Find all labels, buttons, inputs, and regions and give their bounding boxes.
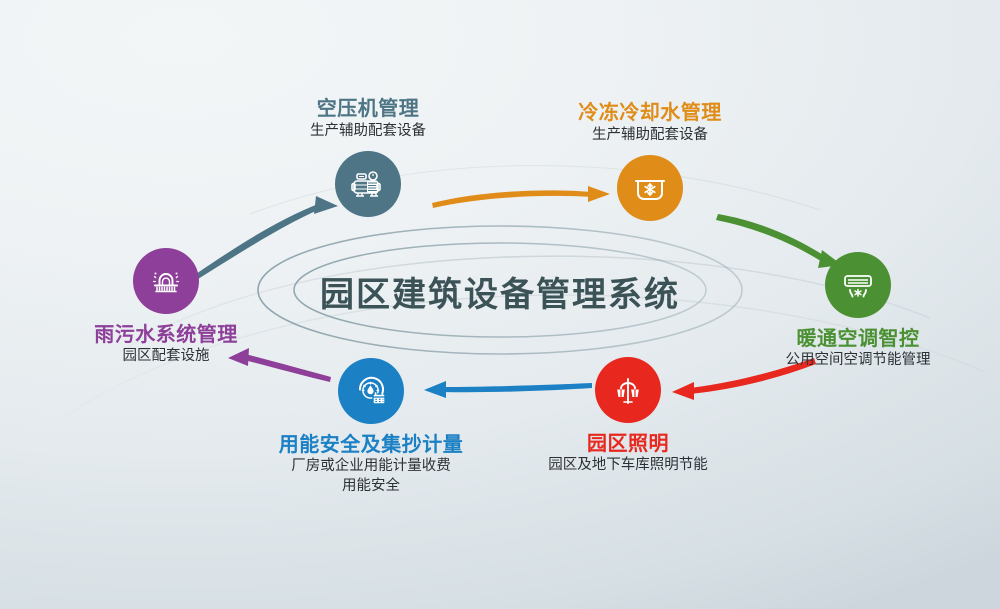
- node-metering-subtitle-line2: 用能安全: [221, 477, 521, 497]
- street-lamp-icon[interactable]: [595, 357, 661, 423]
- node-chilled-water-subtitle: 生产辅助配套设备: [500, 126, 800, 146]
- node-metering-title: 用能安全及集抄计量: [221, 432, 521, 457]
- chilled-water-tank-icon[interactable]: [617, 155, 683, 221]
- node-drainage-title: 雨污水系统管理: [16, 322, 316, 347]
- node-hvac-title: 暖通空调智控: [708, 326, 1000, 351]
- node-lighting-subtitle: 园区及地下车库照明节能: [478, 456, 778, 476]
- node-chilled-water[interactable]: 冷冻冷却水管理 生产辅助配套设备: [500, 100, 800, 221]
- node-metering[interactable]: 用能安全及集抄计量 厂房或企业用能计量收费 用能安全: [221, 358, 521, 496]
- infographic-canvas: 园区建筑设备管理系统 空压机管理 生产辅助配套设备 冷冻冷却水管理 生: [0, 0, 1000, 609]
- node-compressor[interactable]: 空压机管理 生产辅助配套设备: [218, 96, 518, 217]
- air-compressor-icon[interactable]: [335, 151, 401, 217]
- energy-meter-icon[interactable]: [338, 358, 404, 424]
- stormwater-sewage-icon[interactable]: [133, 248, 199, 314]
- node-drainage-subtitle: 园区配套设施: [16, 347, 316, 367]
- node-compressor-title: 空压机管理: [218, 96, 518, 121]
- node-lighting[interactable]: 园区照明 园区及地下车库照明节能: [478, 357, 778, 476]
- node-hvac[interactable]: 暖通空调智控 公用空间空调节能管理: [708, 252, 1000, 371]
- air-conditioner-icon[interactable]: [825, 252, 891, 318]
- node-chilled-water-title: 冷冻冷却水管理: [500, 100, 800, 125]
- node-lighting-title: 园区照明: [478, 431, 778, 456]
- node-drainage[interactable]: 雨污水系统管理 园区配套设施: [16, 248, 316, 367]
- node-compressor-subtitle: 生产辅助配套设备: [218, 122, 518, 142]
- node-metering-subtitle-line1: 厂房或企业用能计量收费: [221, 457, 521, 477]
